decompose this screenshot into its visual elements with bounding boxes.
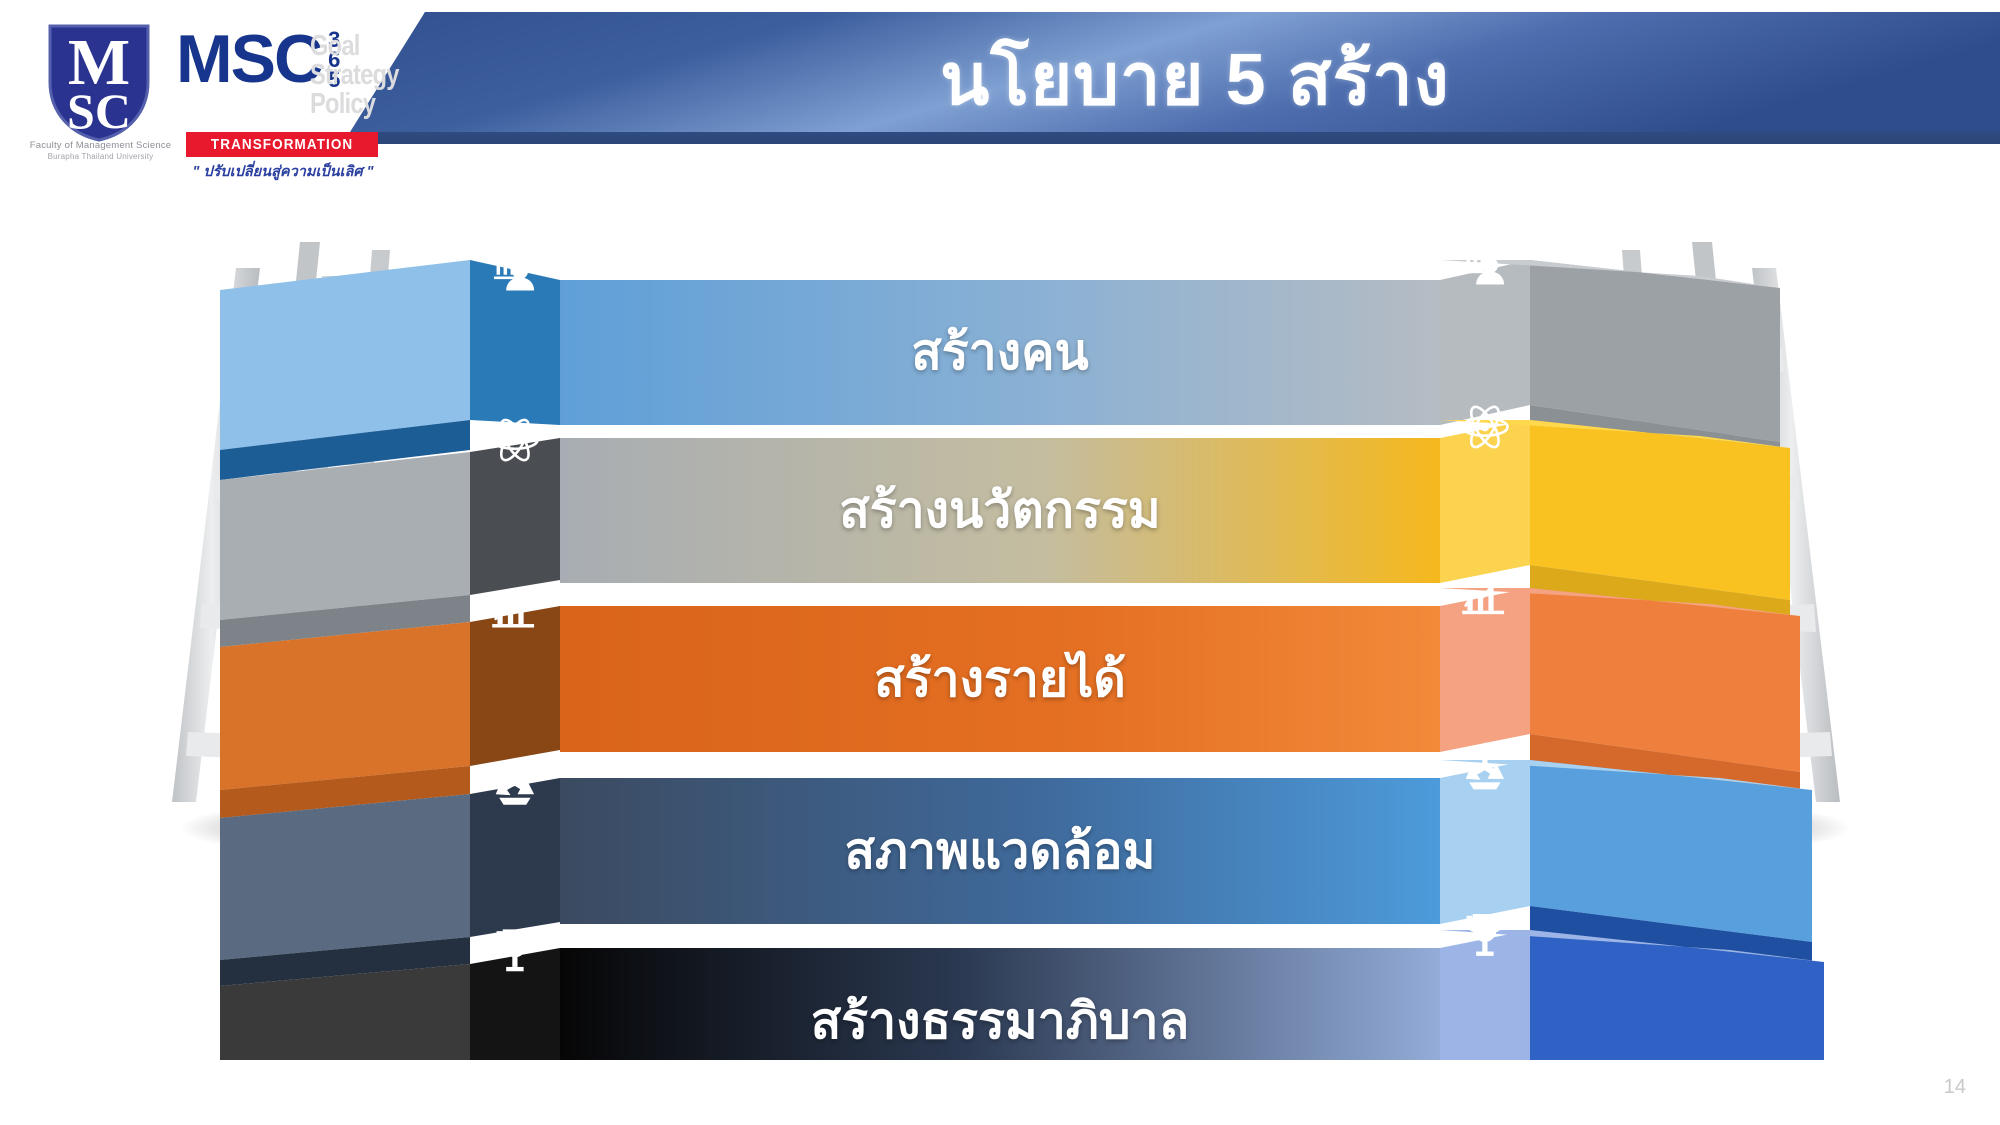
slide: นโยบาย 5 สร้าง M SC Faculty of Managemen… (0, 0, 2000, 1125)
icon-growth-chart-left (470, 530, 560, 686)
person-chart-icon (487, 219, 543, 320)
row-3-left-top (220, 622, 470, 790)
icon-person-chart-right (1440, 184, 1530, 344)
slide-header: นโยบาย 5 สร้าง M SC Faculty of Managemen… (0, 0, 2000, 185)
transformation-bar: TRANSFORMATION (186, 132, 378, 157)
row-2-text: สร้างนวัตกรรม (839, 471, 1161, 550)
policy-row-label-5: สร้างธรรมาภิบาล (560, 948, 1440, 1094)
row-1-text: สร้างคน (911, 313, 1089, 392)
policy-row-label-3: สร้างรายได้ (560, 606, 1440, 752)
policy-row-label-2: สร้างนวัตกรรม (560, 438, 1440, 583)
faculty-caption: Faculty of Management Science Burapha Th… (28, 140, 173, 161)
icon-recycle-left (470, 702, 560, 858)
row-3-text: สร้างรายได้ (874, 640, 1126, 719)
goal-strategy-policy: Goal Strategy Policy (310, 32, 418, 119)
atom-icon (1457, 378, 1513, 476)
icon-atom-right (1440, 348, 1530, 506)
policy-diagram: สร้างคน สร้างนวัตกรรม สร้างรายได้ สภาพแว… (0, 180, 2000, 1060)
person-chart-icon (1457, 214, 1513, 313)
policy-row-label-4: สภาพแวดล้อม (560, 778, 1440, 924)
icon-growth-chart-right (1440, 516, 1530, 674)
svg-text:SC: SC (67, 83, 131, 139)
recycle-icon (487, 732, 543, 829)
faculty-line-1: Faculty of Management Science (28, 140, 173, 151)
page-title: นโยบาย 5 สร้าง (350, 12, 2000, 144)
trophy-icon (1457, 886, 1513, 984)
page-number: 14 (1944, 1076, 1966, 1099)
msc-wordmark: MSC (176, 28, 321, 91)
keyword-strategy: Strategy (310, 61, 399, 90)
faculty-line-2: Burapha Thailand University (28, 152, 173, 161)
icon-trophy-left (470, 872, 560, 1028)
icon-atom-left (470, 363, 560, 518)
trophy-icon (487, 902, 543, 999)
row-4-left-top (220, 794, 470, 960)
recycle-icon (1457, 716, 1513, 814)
row-5-text: สร้างธรรมาภิบาล (811, 982, 1190, 1061)
growth-chart-icon (1457, 546, 1513, 644)
transformation-label: TRANSFORMATION (211, 136, 353, 153)
policy-row-label-1: สร้างคน (560, 280, 1440, 425)
keyword-policy: Policy (310, 90, 399, 119)
atom-icon (487, 392, 543, 488)
icon-recycle-right (1440, 686, 1530, 844)
growth-chart-icon (487, 560, 543, 657)
row-2-left-top (220, 452, 470, 620)
msc-shield-logo: M SC (36, 20, 162, 145)
icon-person-chart-left (470, 188, 560, 351)
icon-trophy-right (1440, 856, 1530, 1014)
logo-area: M SC Faculty of Management Science Burap… (28, 12, 418, 172)
row-4-text: สภาพแวดล้อม (845, 812, 1156, 891)
row-1-left-top (220, 260, 470, 450)
keyword-goal: Goal (310, 32, 399, 61)
